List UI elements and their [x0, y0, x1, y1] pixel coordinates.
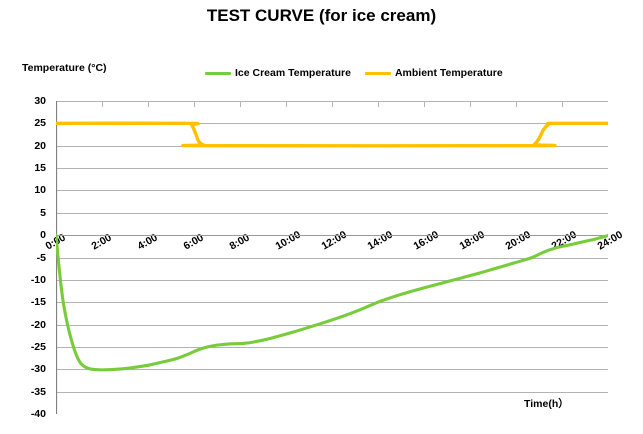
y-tick-label: -40: [2, 409, 46, 420]
y-tick-label: 15: [2, 163, 46, 174]
plot-area: [56, 101, 608, 414]
series-line-ambient: [56, 123, 608, 146]
y-tick-label: 30: [2, 96, 46, 107]
legend-label-ambient: Ambient Temperature: [395, 68, 503, 79]
legend-item-ice-cream: Ice Cream Temperature: [205, 68, 351, 79]
y-tick-label: -15: [2, 297, 46, 308]
chart-title: TEST CURVE (for ice cream): [0, 6, 643, 26]
y-tick-label: -25: [2, 342, 46, 353]
y-tick-label: -20: [2, 320, 46, 331]
y-tick-label: -5: [2, 253, 46, 264]
y-tick-label: -35: [2, 387, 46, 398]
plot-svg: [56, 101, 608, 414]
legend-item-ambient: Ambient Temperature: [365, 68, 503, 79]
legend-swatch-ambient: [365, 72, 391, 75]
legend-label-ice-cream: Ice Cream Temperature: [235, 68, 351, 79]
y-tick-label: 20: [2, 141, 46, 152]
chart-page: TEST CURVE (for ice cream) Temperature (…: [0, 0, 643, 434]
y-tick-label: 0: [2, 230, 46, 241]
y-tick-label: 5: [2, 208, 46, 219]
y-tick-label: -10: [2, 275, 46, 286]
y-tick-label: -30: [2, 364, 46, 375]
y-tick-label: 25: [2, 118, 46, 129]
y-axis-title: Temperature (°C): [22, 62, 107, 74]
y-tick-label: 10: [2, 185, 46, 196]
legend-swatch-ice-cream: [205, 72, 231, 75]
chart-legend: Ice Cream Temperature Ambient Temperatur…: [205, 68, 503, 79]
